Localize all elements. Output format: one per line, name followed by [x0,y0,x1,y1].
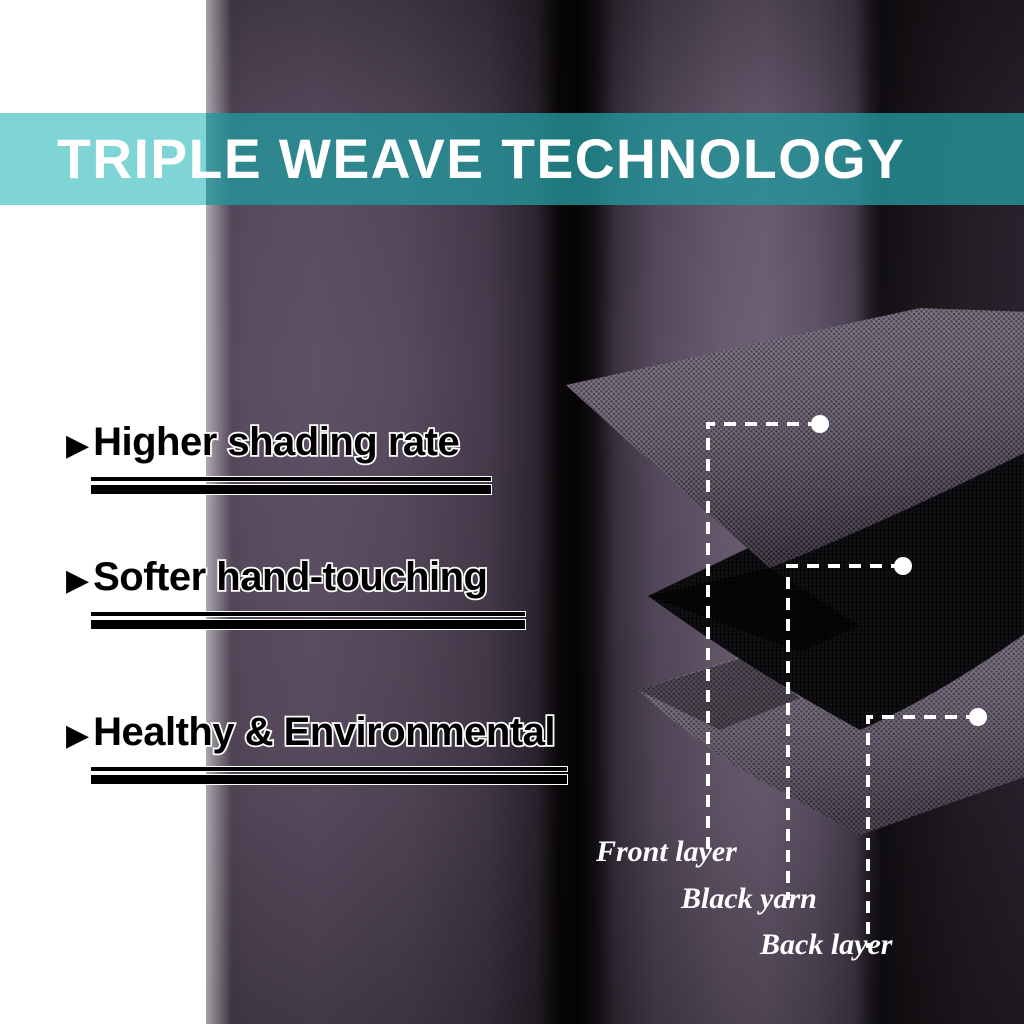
feature-label: Higher shading rate [93,422,459,462]
feature-underline [90,476,492,495]
triangle-bullet-icon: ▶ [66,566,89,596]
feature-row: ▶ Healthy & Environmental [66,712,568,752]
underline-thick-bar [90,619,526,630]
feature-underline [90,766,568,785]
underline-thin-bar [90,611,526,617]
feature-label: Healthy & Environmental [93,712,555,752]
feature-item-higher-shading-rate[interactable]: ▶ Higher shading rate [66,422,492,495]
feature-underline [90,611,526,630]
underline-thick-bar [90,774,568,785]
fabric-layers-illustration [560,300,1024,840]
label-back-layer: Back layer [760,930,892,960]
feature-label: Softer hand-touching [93,557,487,597]
title-banner: TRIPLE WEAVE TECHNOLOGY [0,113,1024,205]
triangle-bullet-icon: ▶ [66,431,89,461]
underline-thin-bar [90,766,568,772]
triangle-bullet-icon: ▶ [66,721,89,751]
label-black-yarn: Black yarn [681,884,817,914]
label-front-layer: Front layer [596,837,737,867]
feature-row: ▶ Softer hand-touching [66,557,526,597]
underline-thin-bar [90,476,492,482]
product-infographic: TRIPLE WEAVE TECHNOLOGY ▶ Higher shading… [0,0,1024,1024]
banner-title: TRIPLE WEAVE TECHNOLOGY [0,113,1009,205]
underline-thick-bar [90,484,492,495]
feature-item-softer-hand-touching[interactable]: ▶ Softer hand-touching [66,557,526,630]
feature-row: ▶ Higher shading rate [66,422,492,462]
feature-item-healthy-environmental[interactable]: ▶ Healthy & Environmental [66,712,568,785]
